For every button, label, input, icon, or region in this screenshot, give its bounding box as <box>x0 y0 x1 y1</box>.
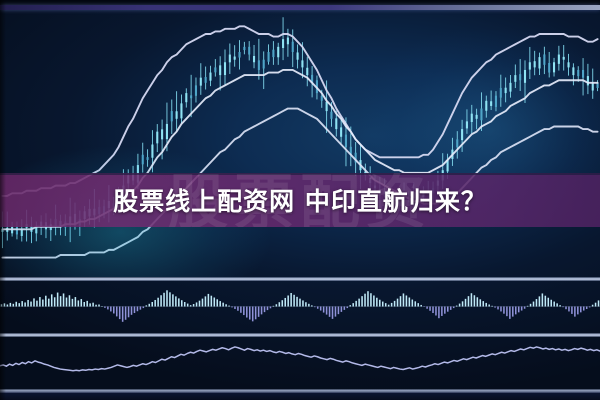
indicator-line-panel <box>0 337 600 389</box>
indicator-line-svg <box>0 337 600 389</box>
headline-banner: 股票配资 股票线上配资网 中印直航归来？ <box>0 173 600 227</box>
price-chart-panel <box>0 10 600 277</box>
macd-histogram-panel <box>0 281 600 332</box>
bottom-edge-bar <box>0 393 600 400</box>
page-title: 股票线上配资网 中印直航归来？ <box>113 182 487 218</box>
macd-histogram-svg <box>0 281 600 332</box>
price-candlestick-svg <box>0 10 600 277</box>
stock-chart-banner: 股票配资 股票线上配资网 中印直航归来？ <box>0 0 600 400</box>
